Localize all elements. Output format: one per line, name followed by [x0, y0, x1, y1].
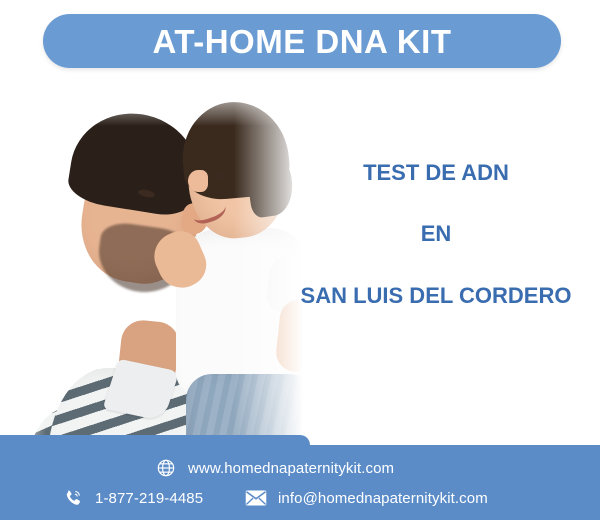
- photo-edge-fade-left: [0, 78, 46, 468]
- envelope-icon: [245, 487, 267, 509]
- service-title-line-2: EN: [280, 221, 592, 246]
- footer-contact-bar: www.homednapaternitykit.com 1-877-219-44…: [0, 445, 600, 520]
- service-location-name: SAN LUIS DEL CORDERO: [280, 283, 592, 308]
- child-nose: [188, 170, 208, 192]
- footer-phone-row[interactable]: 1-877-219-4485: [62, 487, 203, 509]
- globe-icon: [155, 457, 177, 479]
- footer-email-row[interactable]: info@homednapaternitykit.com: [245, 487, 488, 509]
- phone-icon: [62, 487, 84, 509]
- footer-website-row[interactable]: www.homednapaternitykit.com: [155, 457, 394, 479]
- service-title-line-1: TEST DE ADN: [280, 160, 592, 185]
- page-title: AT-HOME DNA KIT: [153, 25, 452, 58]
- footer-email-text: info@homednapaternitykit.com: [278, 490, 488, 507]
- footer-notch: [0, 435, 310, 449]
- footer-website-text: www.homednapaternitykit.com: [188, 460, 394, 477]
- header-banner: AT-HOME DNA KIT: [43, 14, 561, 68]
- promotional-poster: AT-HOME DNA KIT: [0, 0, 600, 520]
- footer-phone-text: 1-877-219-4485: [95, 490, 203, 507]
- photo-edge-fade-top: [0, 78, 330, 126]
- service-info-block: TEST DE ADN EN SAN LUIS DEL CORDERO: [280, 160, 592, 308]
